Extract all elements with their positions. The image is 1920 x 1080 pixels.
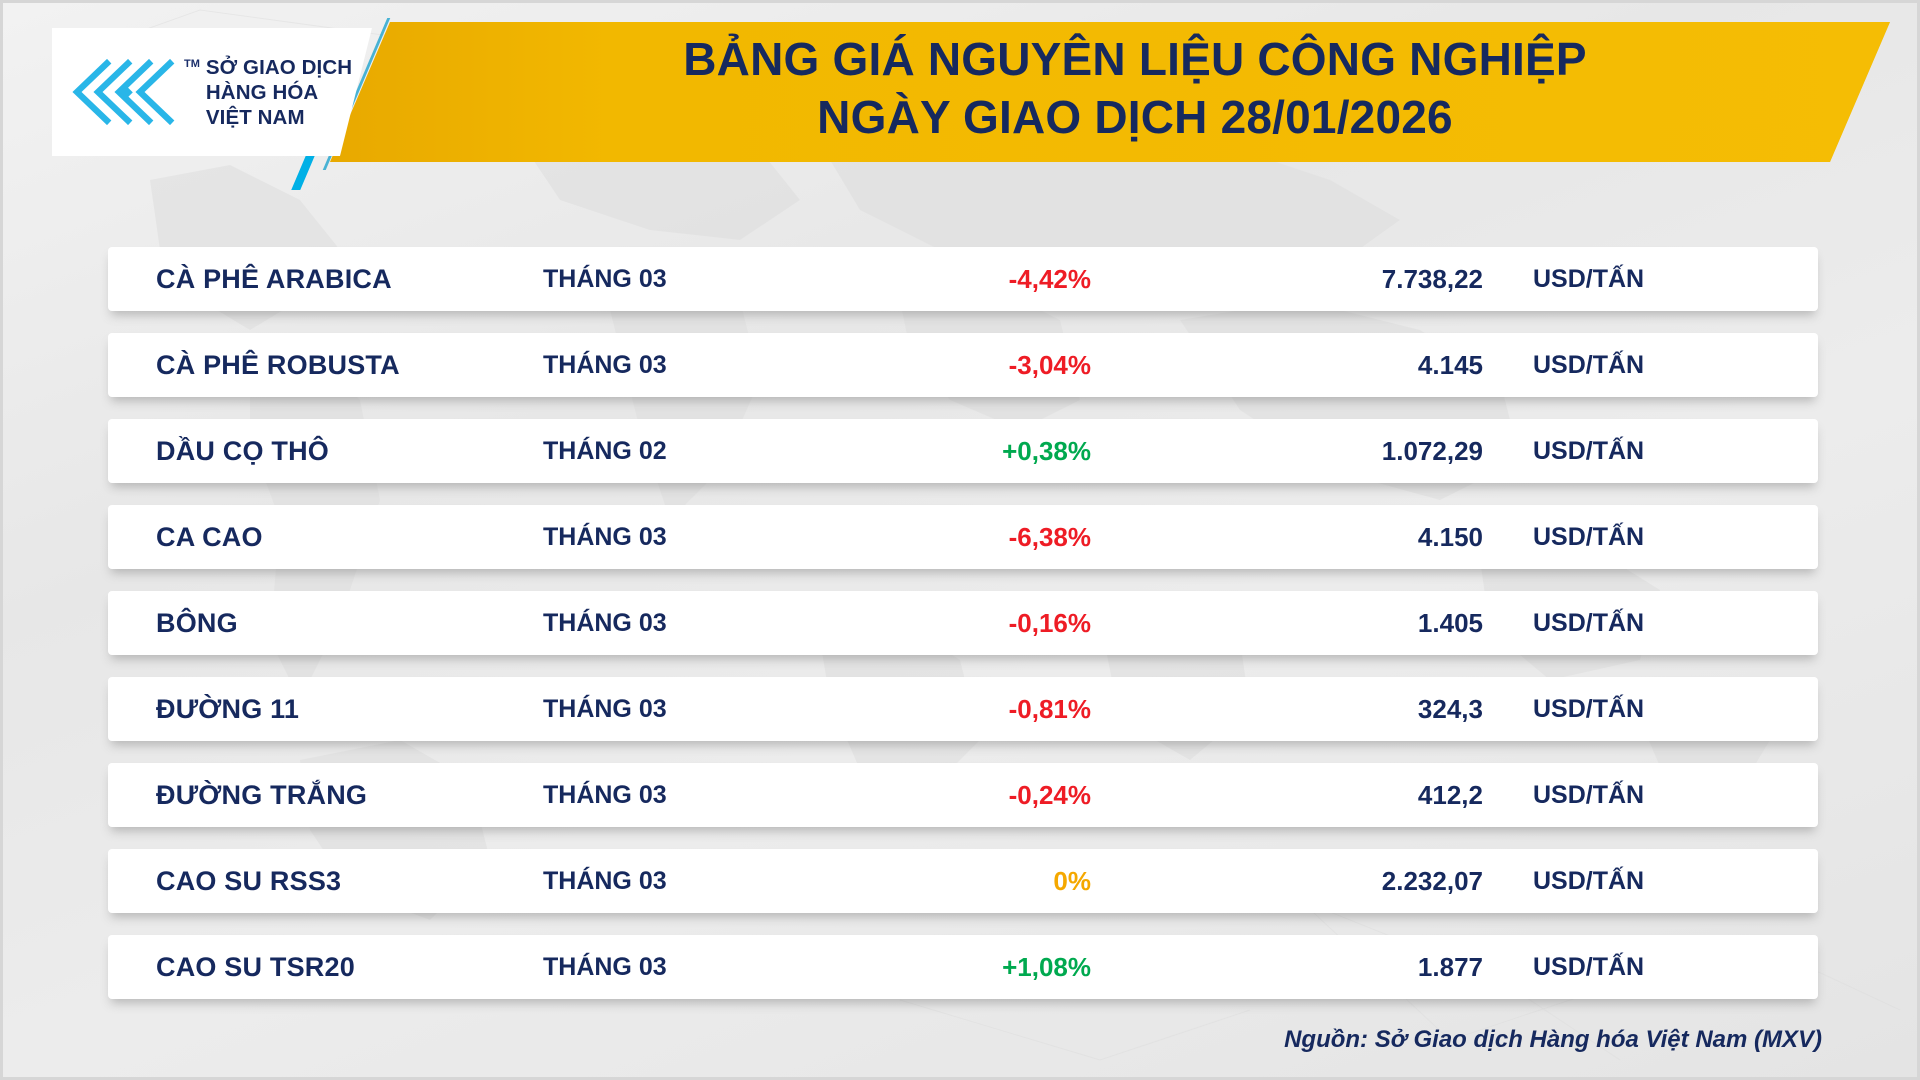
- table-row[interactable]: CAO SU TSR20THÁNG 03+1,08%1.877USD/TẤN: [108, 935, 1818, 999]
- source-note: Nguồn: Sở Giao dịch Hàng hóa Việt Nam (M…: [1284, 1026, 1822, 1054]
- commodity-name: BÔNG: [108, 608, 543, 639]
- price-value: 1.405: [1153, 608, 1483, 639]
- contract-month: THÁNG 02: [543, 437, 813, 466]
- price-table: CÀ PHÊ ARABICATHÁNG 03-4,42%7.738,22USD/…: [108, 247, 1818, 1021]
- table-row[interactable]: ĐƯỜNG TRẮNGTHÁNG 03-0,24%412,2USD/TẤN: [108, 763, 1818, 827]
- price-unit: USD/TẤN: [1483, 609, 1818, 638]
- page-header: TM SỞ GIAO DỊCH HÀNG HÓA VIỆT NAM BẢNG G…: [0, 0, 1920, 185]
- commodity-name: CAO SU TSR20: [108, 952, 543, 983]
- commodity-name: ĐƯỜNG TRẮNG: [108, 780, 543, 811]
- table-row[interactable]: ĐƯỜNG 11THÁNG 03-0,81%324,3USD/TẤN: [108, 677, 1818, 741]
- logo-line-3: VIỆT NAM: [206, 105, 352, 130]
- logo-line-2: HÀNG HÓA: [206, 80, 352, 105]
- table-row[interactable]: CÀ PHÊ ARABICATHÁNG 03-4,42%7.738,22USD/…: [108, 247, 1818, 311]
- table-row[interactable]: CA CAOTHÁNG 03-6,38%4.150USD/TẤN: [108, 505, 1818, 569]
- price-unit: USD/TẤN: [1483, 523, 1818, 552]
- logo-card: TM SỞ GIAO DỊCH HÀNG HÓA VIỆT NAM: [52, 28, 372, 156]
- contract-month: THÁNG 03: [543, 695, 813, 724]
- page-title: BẢNG GIÁ NGUYÊN LIỆU CÔNG NGHIỆP NGÀY GI…: [470, 30, 1800, 146]
- price-change: +0,38%: [813, 436, 1153, 467]
- price-value: 1.877: [1153, 952, 1483, 983]
- commodity-name: DẦU CỌ THÔ: [108, 436, 543, 467]
- contract-month: THÁNG 03: [543, 609, 813, 638]
- commodity-name: CÀ PHÊ ARABICA: [108, 264, 543, 295]
- logo-wordmark: SỞ GIAO DỊCH HÀNG HÓA VIỆT NAM: [206, 55, 352, 130]
- table-row[interactable]: BÔNGTHÁNG 03-0,16%1.405USD/TẤN: [108, 591, 1818, 655]
- trademark-icon: TM: [184, 58, 200, 70]
- table-row[interactable]: DẦU CỌ THÔTHÁNG 02+0,38%1.072,29USD/TẤN: [108, 419, 1818, 483]
- contract-month: THÁNG 03: [543, 351, 813, 380]
- price-value: 7.738,22: [1153, 264, 1483, 295]
- title-line-1: BẢNG GIÁ NGUYÊN LIỆU CÔNG NGHIỆP: [470, 30, 1800, 88]
- price-change: -0,81%: [813, 694, 1153, 725]
- price-change: -0,16%: [813, 608, 1153, 639]
- price-change: -6,38%: [813, 522, 1153, 553]
- price-value: 4.145: [1153, 350, 1483, 381]
- price-unit: USD/TẤN: [1483, 695, 1818, 724]
- commodity-name: ĐƯỜNG 11: [108, 694, 543, 725]
- price-unit: USD/TẤN: [1483, 437, 1818, 466]
- price-unit: USD/TẤN: [1483, 867, 1818, 896]
- logo-line-1: SỞ GIAO DỊCH: [206, 55, 352, 80]
- price-change: +1,08%: [813, 952, 1153, 983]
- contract-month: THÁNG 03: [543, 953, 813, 982]
- price-value: 4.150: [1153, 522, 1483, 553]
- price-unit: USD/TẤN: [1483, 953, 1818, 982]
- contract-month: THÁNG 03: [543, 265, 813, 294]
- price-value: 412,2: [1153, 780, 1483, 811]
- table-row[interactable]: CAO SU RSS3THÁNG 030%2.232,07USD/TẤN: [108, 849, 1818, 913]
- commodity-name: CAO SU RSS3: [108, 866, 543, 897]
- price-value: 1.072,29: [1153, 436, 1483, 467]
- contract-month: THÁNG 03: [543, 867, 813, 896]
- contract-month: THÁNG 03: [543, 781, 813, 810]
- price-change: -0,24%: [813, 780, 1153, 811]
- price-change: 0%: [813, 866, 1153, 897]
- price-value: 2.232,07: [1153, 866, 1483, 897]
- contract-month: THÁNG 03: [543, 523, 813, 552]
- title-line-2: NGÀY GIAO DỊCH 28/01/2026: [470, 88, 1800, 146]
- commodity-name: CA CAO: [108, 522, 543, 553]
- table-row[interactable]: CÀ PHÊ ROBUSTATHÁNG 03-3,04%4.145USD/TẤN: [108, 333, 1818, 397]
- price-unit: USD/TẤN: [1483, 265, 1818, 294]
- price-change: -4,42%: [813, 264, 1153, 295]
- price-change: -3,04%: [813, 350, 1153, 381]
- price-value: 324,3: [1153, 694, 1483, 725]
- price-unit: USD/TẤN: [1483, 781, 1818, 810]
- mxv-chevron-logo-icon: [70, 56, 182, 128]
- commodity-name: CÀ PHÊ ROBUSTA: [108, 350, 543, 381]
- price-unit: USD/TẤN: [1483, 351, 1818, 380]
